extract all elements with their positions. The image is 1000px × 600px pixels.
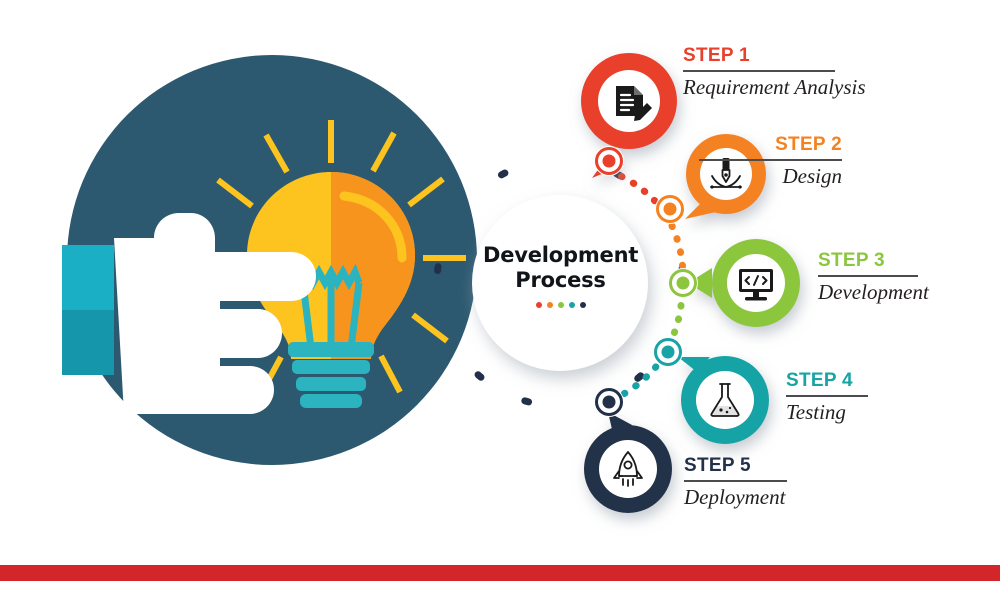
orbit-node-4[interactable]: [653, 337, 683, 367]
step-label-2: STEP 2 Design: [699, 134, 842, 189]
development-process-infographic: Development Process STEP 1 Requirement A…: [0, 0, 1000, 600]
step-4-title: Testing: [786, 400, 868, 425]
step-bubble-5[interactable]: [584, 412, 672, 513]
step-bubble-4[interactable]: [678, 356, 769, 444]
hub-circle: [472, 195, 648, 371]
step-4-number: STEP 4: [786, 370, 868, 392]
step-1-title: Requirement Analysis: [683, 75, 835, 100]
step-2-number: STEP 2: [699, 134, 842, 156]
step-1-number: STEP 1: [683, 45, 835, 67]
orbit-node-1[interactable]: [594, 146, 624, 176]
step-3-number: STEP 3: [818, 250, 918, 272]
step-label-3: STEP 3 Development: [818, 250, 918, 305]
step-3-rule: [818, 275, 918, 277]
step-1-rule: [683, 70, 835, 72]
step-label-4: STEP 4 Testing: [786, 370, 868, 425]
step-5-rule: [684, 480, 787, 482]
orbit-node-2[interactable]: [655, 194, 685, 224]
step-5-number: STEP 5: [684, 455, 787, 477]
step-5-title: Deployment: [684, 485, 787, 510]
orbit-node-5[interactable]: [594, 387, 624, 417]
step-label-1: STEP 1 Requirement Analysis: [683, 45, 835, 100]
step-bubble-3[interactable]: [688, 239, 800, 327]
step-2-rule: [699, 159, 842, 161]
step-4-rule: [786, 395, 868, 397]
bottom-accent-bar: [0, 565, 1000, 581]
step-3-title: Development: [818, 280, 918, 305]
step-label-5: STEP 5 Deployment: [684, 455, 787, 510]
orbit-node-3[interactable]: [668, 268, 698, 298]
step-2-title: Design: [699, 164, 842, 189]
illustration-group: [62, 55, 477, 465]
